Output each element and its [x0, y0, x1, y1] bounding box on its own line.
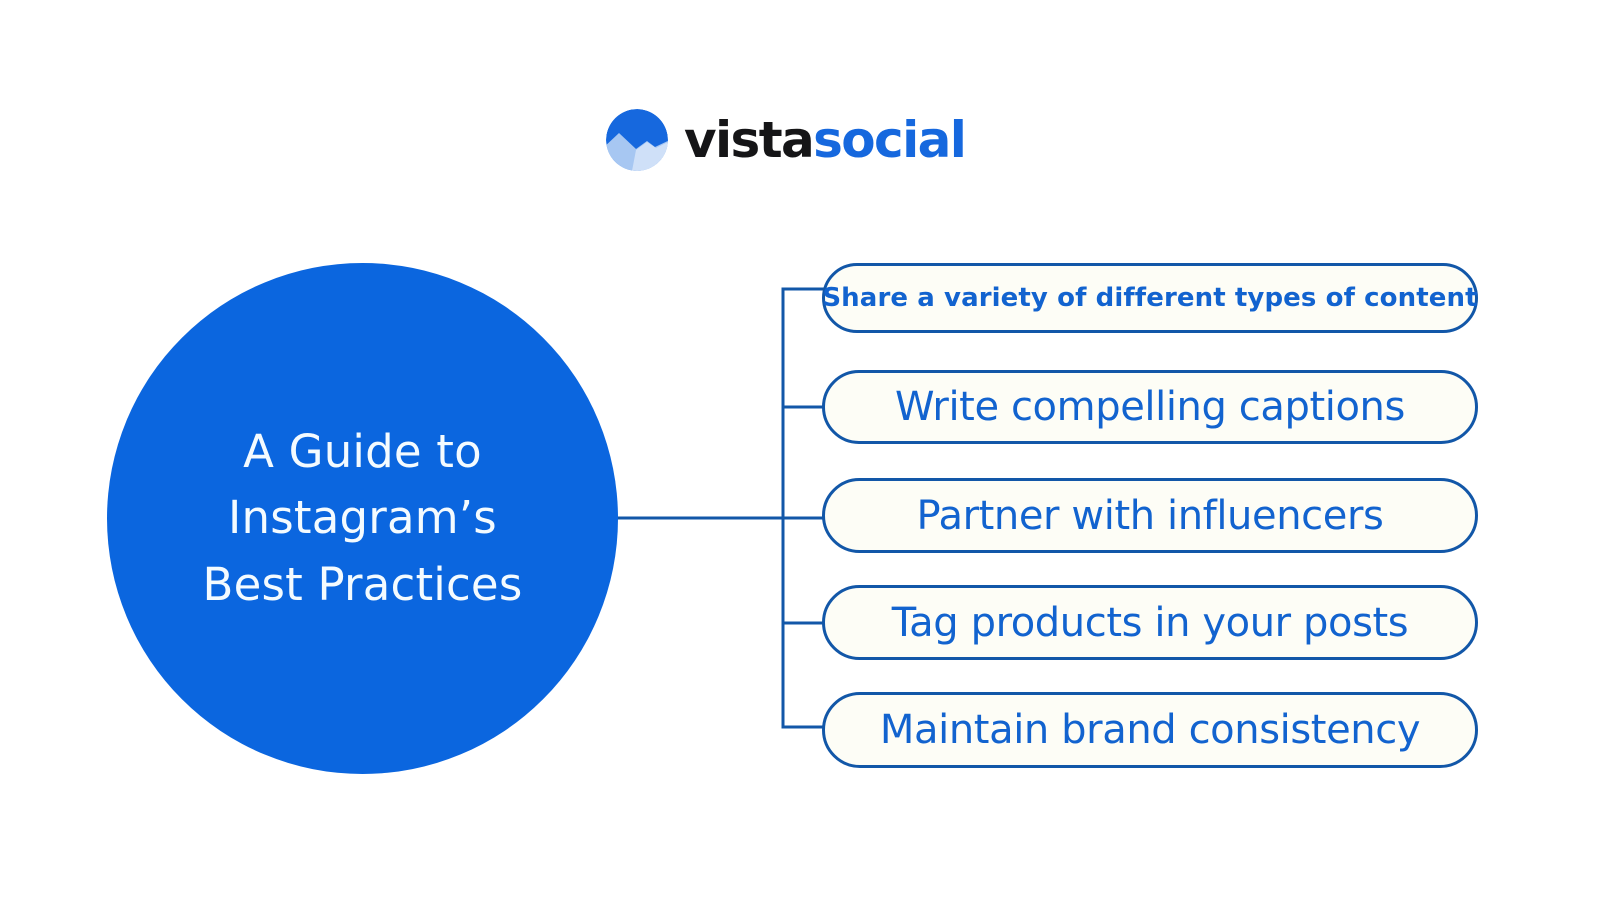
- branch-node-2-label: Partner with influencers: [917, 494, 1384, 538]
- hub-circle: A Guide to Instagram’s Best Practices: [107, 263, 618, 774]
- branch-node-1-label: Write compelling captions: [895, 385, 1405, 429]
- branch-node-3[interactable]: Tag products in your posts: [822, 585, 1478, 660]
- diagram-canvas: vistasocial A Guide to Instagram’s Best …: [0, 0, 1600, 900]
- branch-node-3-label: Tag products in your posts: [892, 601, 1409, 645]
- brand-logo: vistasocial: [606, 104, 965, 176]
- brand-word-social: social: [813, 115, 965, 165]
- branch-node-1[interactable]: Write compelling captions: [822, 370, 1478, 444]
- vistasocial-mountain-circle-logo-icon: [606, 109, 668, 171]
- branch-node-4[interactable]: Maintain brand consistency: [822, 692, 1478, 768]
- branch-node-2[interactable]: Partner with influencers: [822, 478, 1478, 553]
- branch-node-0[interactable]: Share a variety of different types of co…: [822, 263, 1478, 333]
- branch-node-4-label: Maintain brand consistency: [880, 708, 1420, 752]
- branch-node-0-label: Share a variety of different types of co…: [822, 284, 1477, 313]
- brand-wordmark: vistasocial: [684, 115, 965, 165]
- brand-word-vista: vista: [684, 115, 813, 165]
- page-title: A Guide to Instagram’s Best Practices: [163, 419, 563, 619]
